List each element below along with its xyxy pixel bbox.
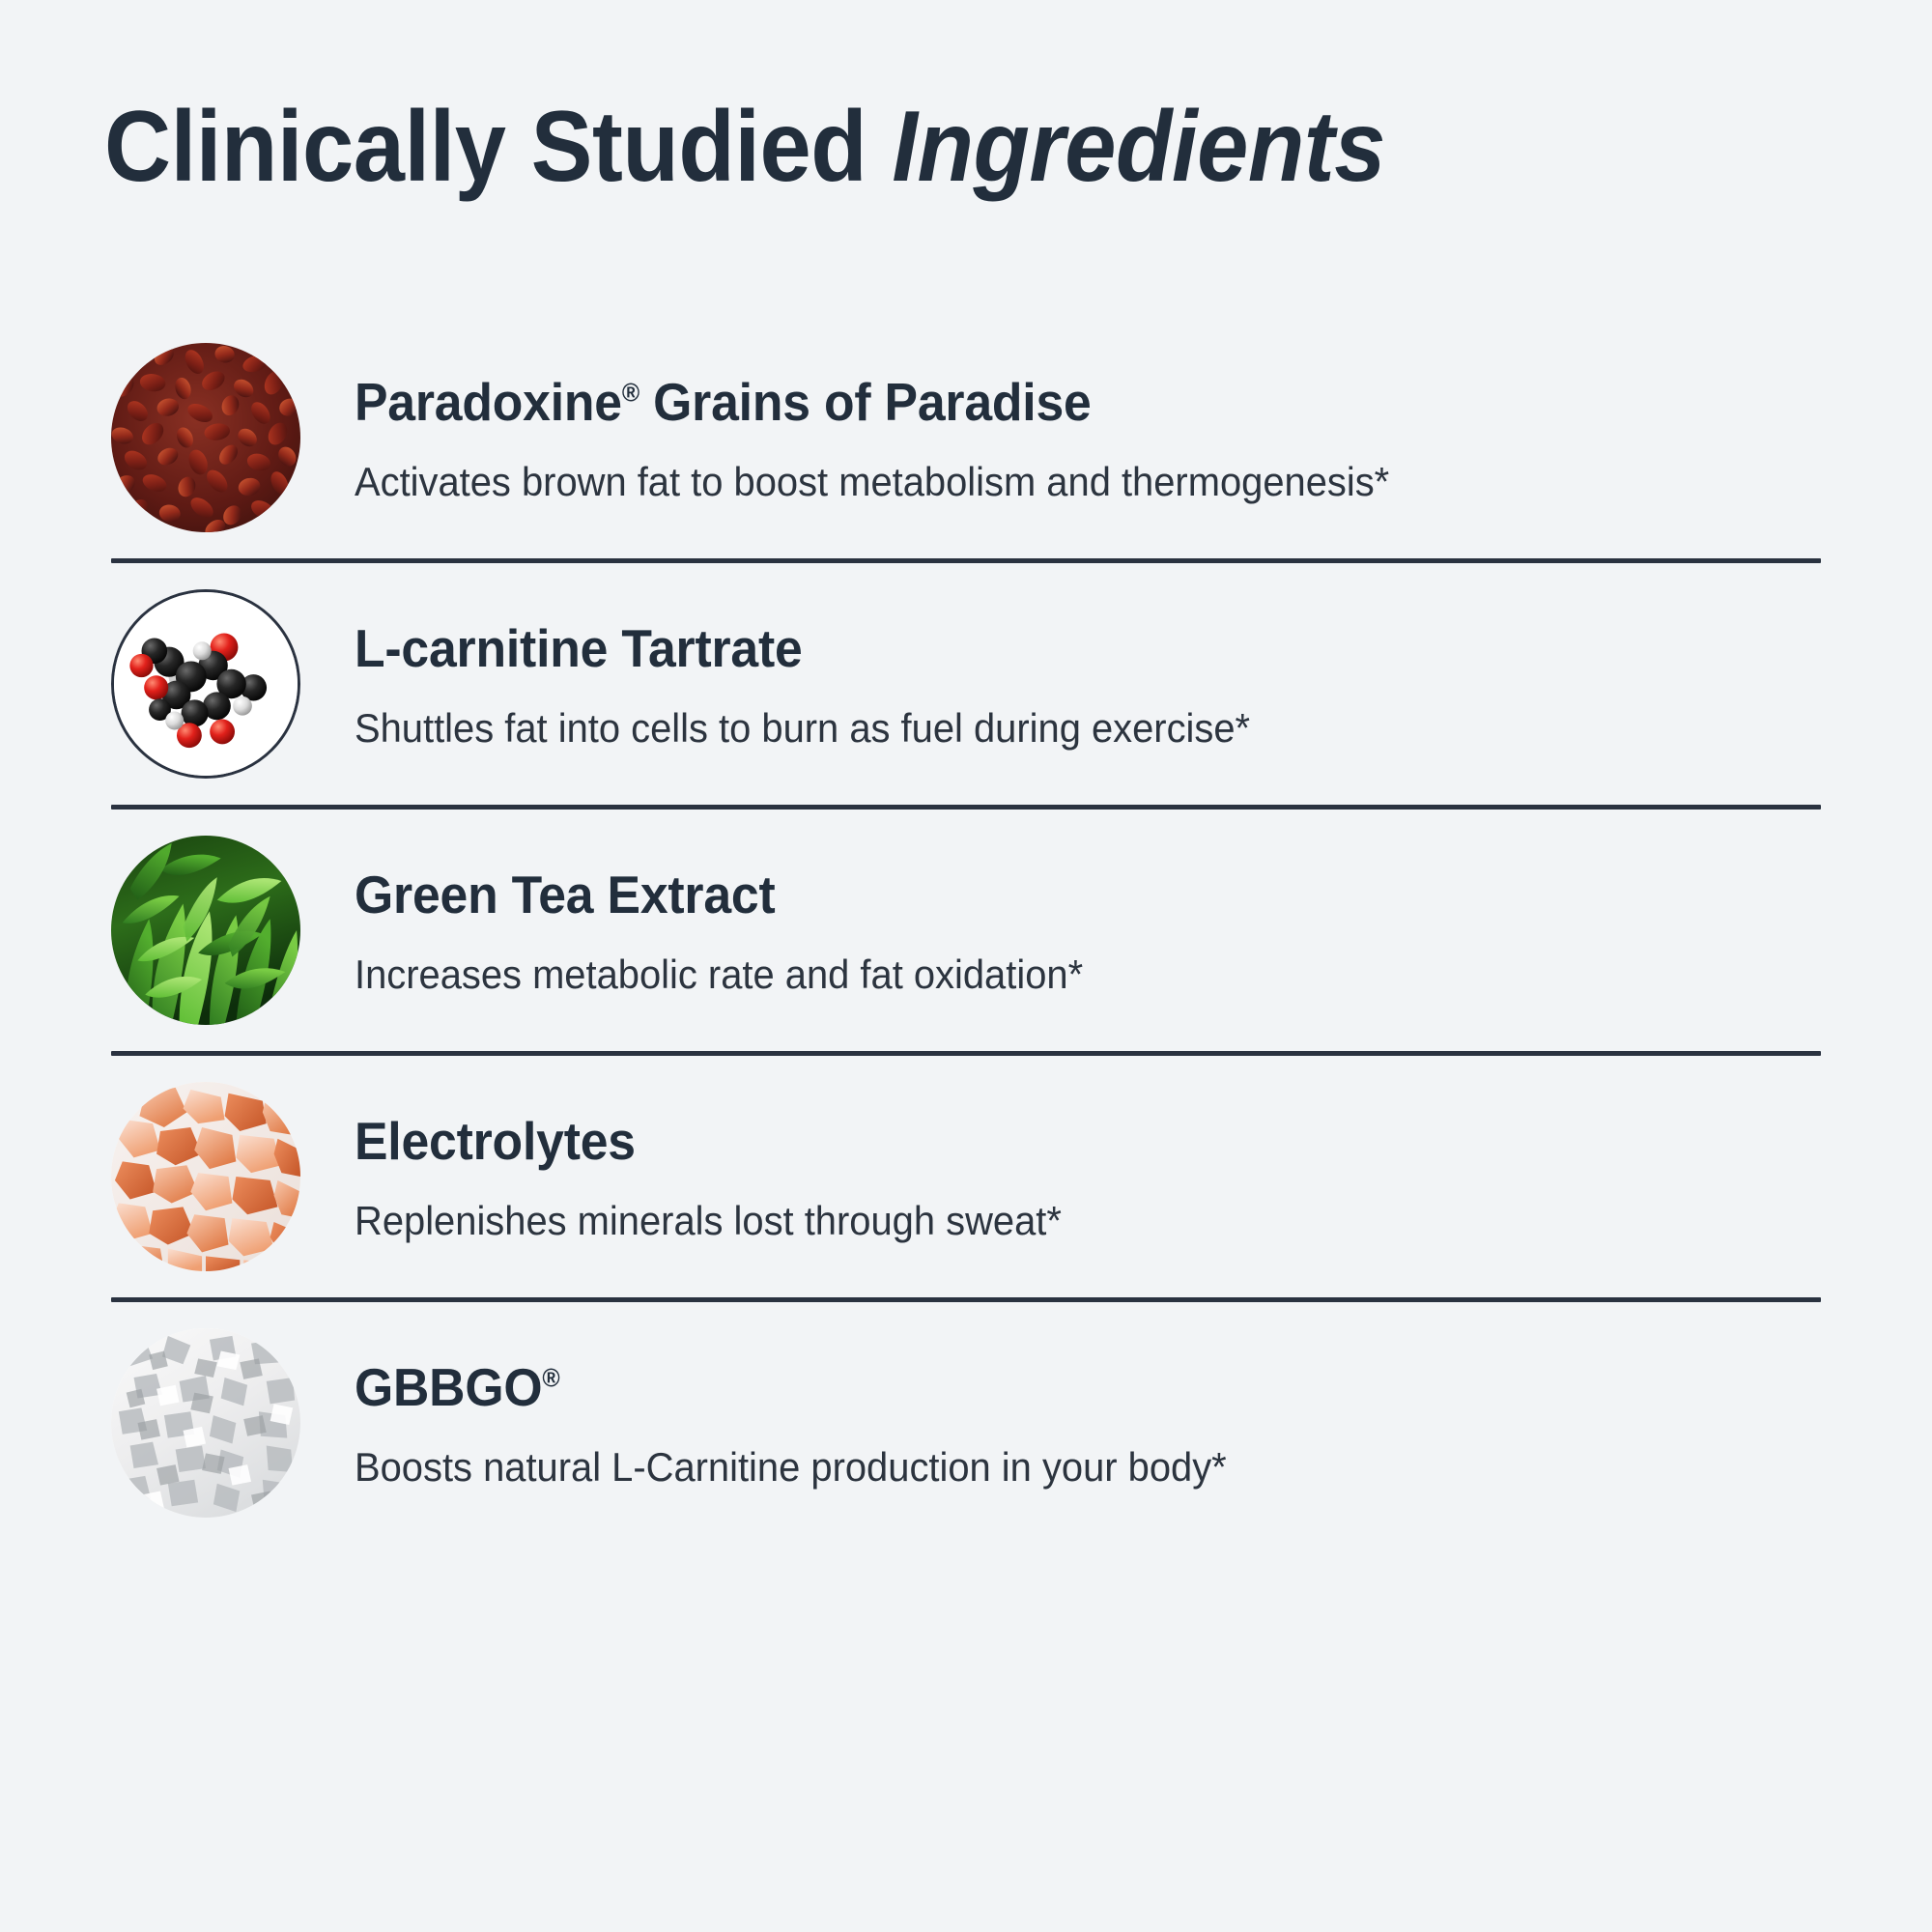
ingredient-name-text: L-carnitine Tartrate — [355, 618, 803, 678]
grains-of-paradise-icon — [111, 343, 300, 532]
page-title-regular: Clinically Studied — [104, 91, 892, 203]
registered-trademark-icon: ® — [542, 1364, 559, 1393]
ingredient-name: Green Tea Extract — [355, 866, 1733, 925]
ingredient-copy: Electrolytes Replenishes minerals lost t… — [355, 1108, 1821, 1245]
list-item[interactable]: Green Tea Extract Increases metabolic ra… — [0, 810, 1932, 1051]
ingredient-copy: L-carnitine Tartrate Shuttles fat into c… — [355, 615, 1821, 753]
ingredient-name-suffix: Grains of Paradise — [639, 372, 1092, 432]
ingredient-name: GBBGO® — [355, 1358, 1733, 1418]
green-tea-leaves-icon — [111, 836, 300, 1025]
ingredient-name-text: Electrolytes — [355, 1111, 636, 1171]
ingredient-name-text: GBBGO — [355, 1357, 542, 1417]
list-item[interactable]: GBBGO® Boosts natural L-Carnitine produc… — [0, 1302, 1932, 1544]
ingredient-name-text: Green Tea Extract — [355, 865, 775, 924]
ingredient-list: Paradoxine® Grains of Paradise Activates… — [0, 317, 1932, 1544]
ingredient-copy: Paradoxine® Grains of Paradise Activates… — [355, 369, 1821, 506]
l-carnitine-molecule-icon — [111, 589, 300, 779]
list-item[interactable]: Electrolytes Replenishes minerals lost t… — [0, 1056, 1932, 1297]
ingredient-description: Boosts natural L-Carnitine production in… — [355, 1443, 1747, 1492]
ingredient-name: L-carnitine Tartrate — [355, 619, 1733, 679]
ingredients-panel: Clinically Studied Ingredients — [0, 0, 1932, 1932]
ingredient-copy: Green Tea Extract Increases metabolic ra… — [355, 862, 1821, 999]
ingredient-description: Replenishes minerals lost through sweat* — [355, 1197, 1747, 1245]
registered-trademark-icon: ® — [622, 379, 639, 408]
ingredient-name: Electrolytes — [355, 1112, 1733, 1172]
ingredient-name-text: Paradoxine — [355, 372, 622, 432]
white-powder-icon — [111, 1328, 300, 1518]
ingredient-description: Activates brown fat to boost metabolism … — [355, 458, 1747, 506]
ingredient-description: Shuttles fat into cells to burn as fuel … — [355, 704, 1747, 753]
page-title: Clinically Studied Ingredients — [104, 93, 1704, 201]
ingredient-description: Increases metabolic rate and fat oxidati… — [355, 951, 1747, 999]
ingredient-name: Paradoxine® Grains of Paradise — [355, 373, 1733, 433]
pink-salt-crystals-icon — [111, 1082, 300, 1271]
ingredient-copy: GBBGO® Boosts natural L-Carnitine produc… — [355, 1354, 1821, 1492]
list-item[interactable]: L-carnitine Tartrate Shuttles fat into c… — [0, 563, 1932, 805]
page-title-italic: Ingredients — [892, 91, 1385, 203]
list-item[interactable]: Paradoxine® Grains of Paradise Activates… — [0, 317, 1932, 558]
